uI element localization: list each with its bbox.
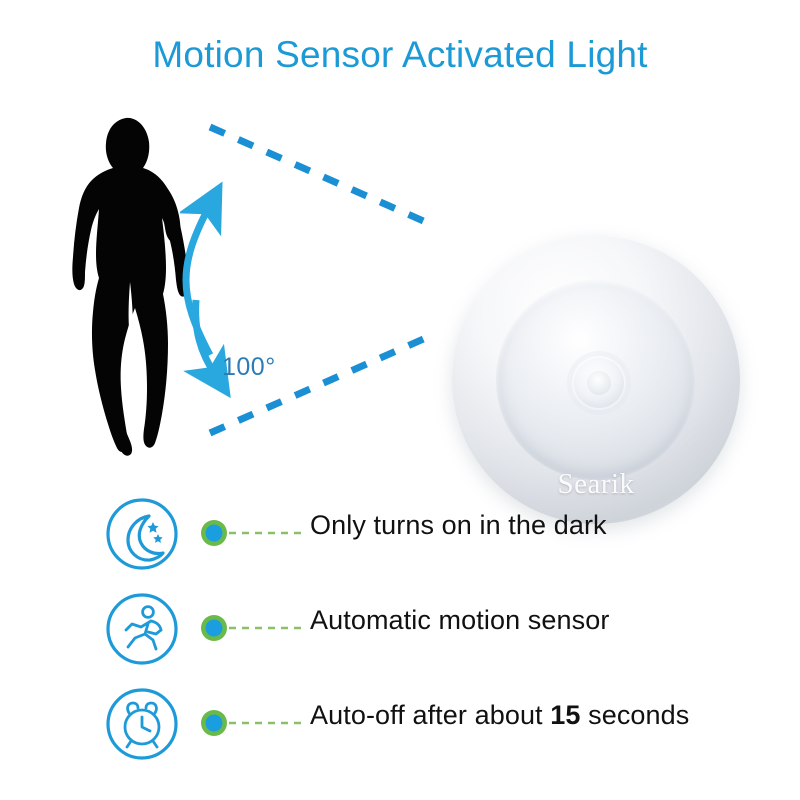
dashed-ray-upper-icon — [210, 127, 428, 223]
list-item: Auto-off after about 15 seconds — [0, 682, 800, 777]
dashed-ray-lower-icon — [210, 337, 428, 433]
list-item: Only turns on in the dark — [0, 492, 800, 587]
hero-illustration: 100° Searik — [0, 100, 800, 470]
feature-label-duration: 15 — [550, 700, 580, 730]
lamp-lens — [496, 280, 696, 480]
page-title: Motion Sensor Activated Light — [0, 34, 800, 76]
feature-label-prefix: Auto-off after about — [310, 700, 550, 730]
connector-dot-core — [206, 620, 223, 637]
connector-line — [198, 517, 310, 549]
connector-line — [198, 612, 310, 644]
alarm-clock-icon — [104, 686, 180, 762]
angle-arc-arrow-down-icon — [196, 300, 216, 376]
connector-dot-core — [206, 715, 223, 732]
product-infographic: Motion Sensor Activated Light — [0, 0, 800, 800]
detection-cone-diagram — [180, 100, 460, 460]
motion-sensor-dome-icon — [572, 356, 626, 410]
product-image-puck-light: Searik — [452, 236, 740, 524]
running-person-icon — [104, 591, 180, 667]
feature-label: Auto-off after about 15 seconds — [310, 700, 689, 731]
feature-label-text: Automatic motion sensor — [310, 605, 609, 635]
moon-stars-icon — [104, 496, 180, 572]
feature-list: Only turns on in the dark Automatic moti… — [0, 492, 800, 777]
connector-line — [198, 707, 310, 739]
feature-label: Only turns on in the dark — [310, 510, 607, 541]
feature-label: Automatic motion sensor — [310, 605, 609, 636]
detection-angle-label: 100° — [222, 353, 276, 382]
list-item: Automatic motion sensor — [0, 587, 800, 682]
feature-label-text: Only turns on in the dark — [310, 510, 607, 540]
motion-sensor-inner — [587, 371, 611, 395]
feature-label-suffix: seconds — [581, 700, 690, 730]
connector-dot-core — [206, 525, 223, 542]
